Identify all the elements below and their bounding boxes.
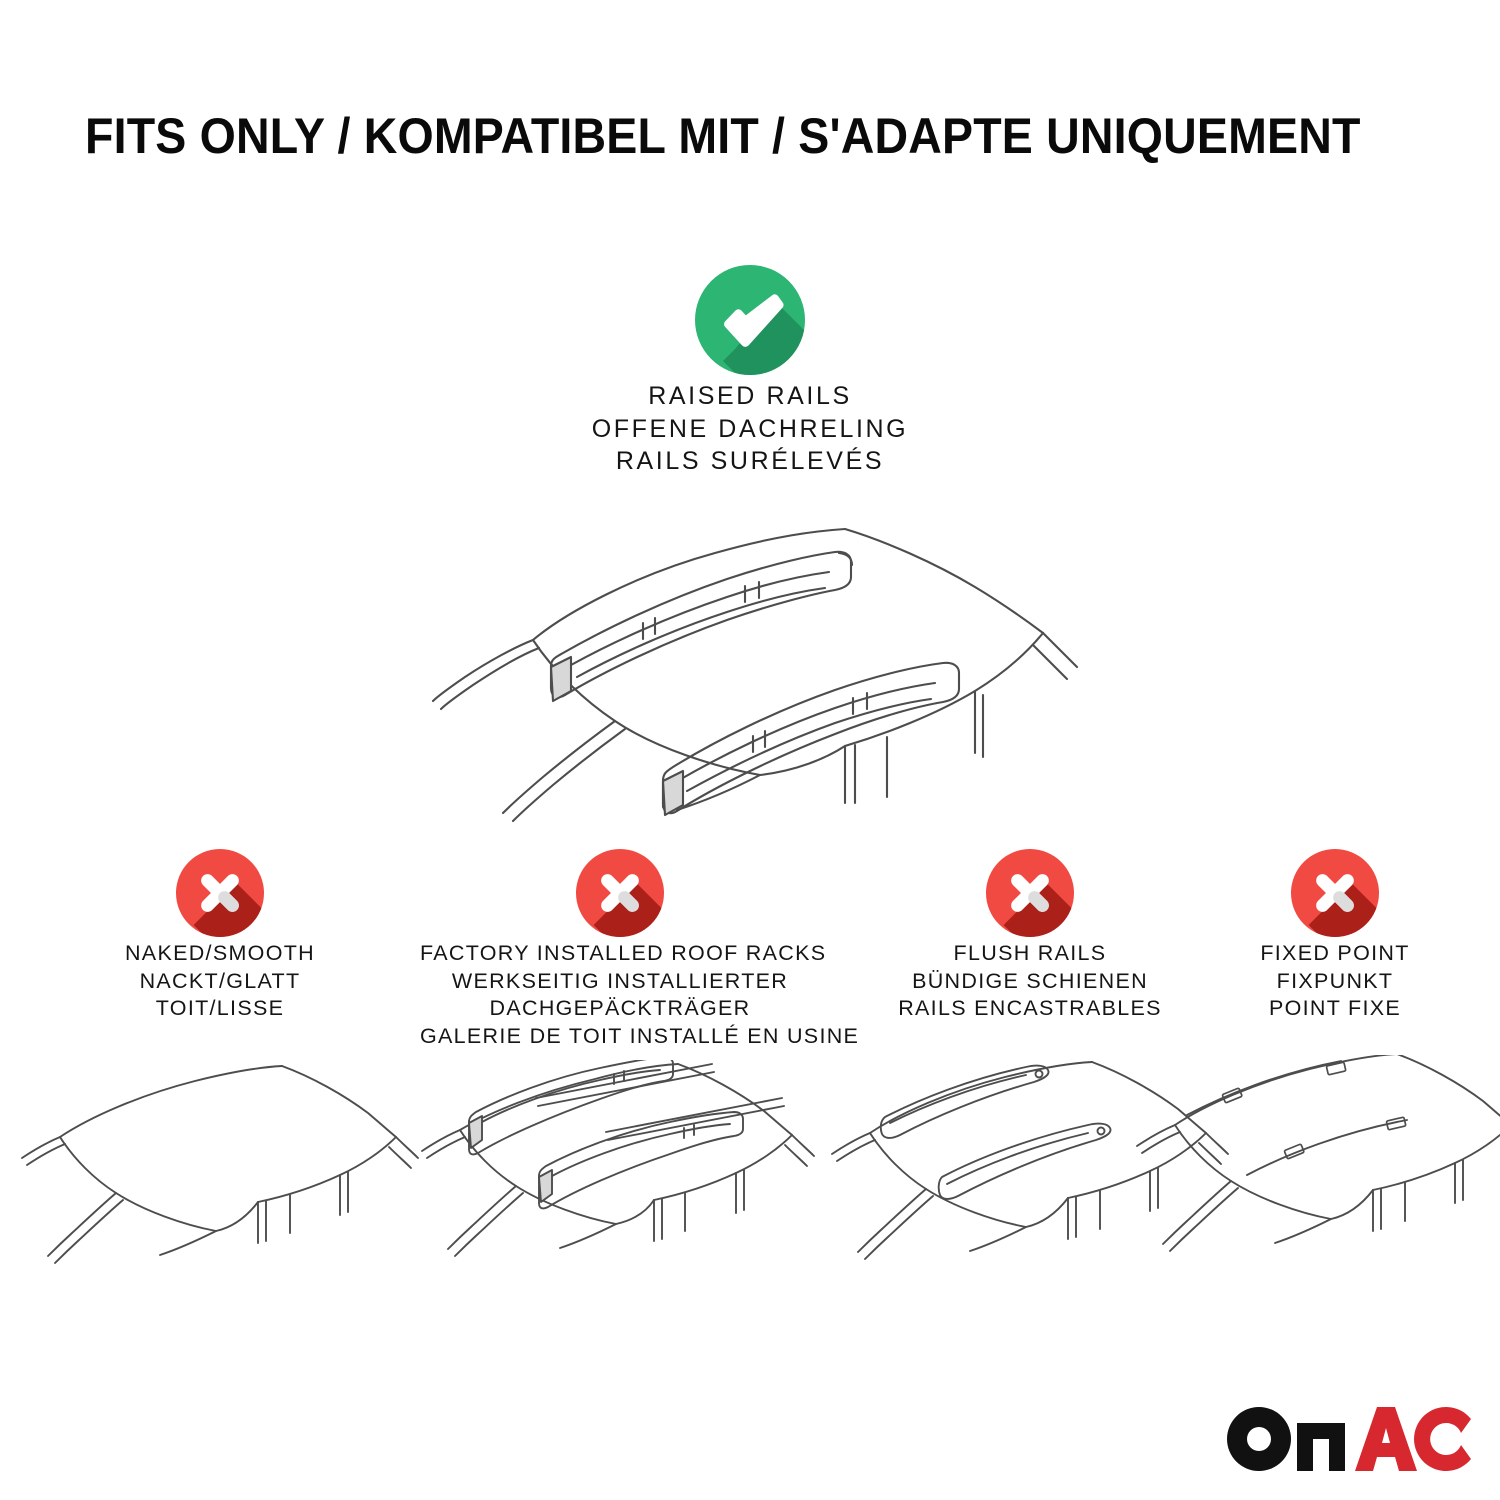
- option-caption: FIXED POINT FIXPUNKT POINT FIXE: [1135, 940, 1500, 1023]
- caption-line-3: DACHGEPÄCKTRÄGER: [420, 995, 820, 1023]
- caption-line-1: RAISED RAILS: [0, 380, 1500, 413]
- car-roof-factory-roof-racks-illustration: [420, 1060, 820, 1280]
- cross-circle-icon: [172, 845, 268, 941]
- check-circle-icon: [690, 260, 810, 380]
- caption-line-1: FACTORY INSTALLED ROOF RACKS: [420, 940, 820, 968]
- caption-line-1: FIXED POINT: [1135, 940, 1500, 968]
- car-roof-naked-smooth-illustration: [20, 1055, 420, 1275]
- cross-circle-icon: [982, 845, 1078, 941]
- caption-line-3: TOIT/LISSE: [20, 995, 420, 1023]
- caption-line-2: NACKT/GLATT: [20, 968, 420, 996]
- page-title: FITS ONLY / KOMPATIBEL MIT / S'ADAPTE UN…: [85, 110, 1331, 163]
- omac-logo: OMAC: [1225, 1403, 1475, 1475]
- option-caption: NAKED/SMOOTH NACKT/GLATT TOIT/LISSE: [20, 940, 420, 1023]
- cross-circle-icon: [1287, 845, 1383, 941]
- caption-line-1: NAKED/SMOOTH: [20, 940, 420, 968]
- caption-line-2: OFFENE DACHRELING: [0, 413, 1500, 446]
- caption-line-4: GALERIE DE TOIT INSTALLÉ EN USINE: [420, 1023, 820, 1051]
- caption-line-3: RAILS SURÉLEVÉS: [0, 445, 1500, 478]
- caption-line-3: POINT FIXE: [1135, 995, 1500, 1023]
- compatibility-infographic: FITS ONLY / KOMPATIBEL MIT / S'ADAPTE UN…: [0, 0, 1500, 1500]
- compatible-caption: RAISED RAILS OFFENE DACHRELING RAILS SUR…: [0, 380, 1500, 478]
- option-caption: FACTORY INSTALLED ROOF RACKS WERKSEITIG …: [420, 940, 820, 1050]
- car-roof-fixed-point-illustration: [1135, 1055, 1500, 1275]
- car-roof-raised-rails-illustration: [415, 505, 1095, 825]
- caption-line-2: WERKSEITIG INSTALLIERTER: [420, 968, 820, 996]
- caption-line-2: FIXPUNKT: [1135, 968, 1500, 996]
- cross-circle-icon: [572, 845, 668, 941]
